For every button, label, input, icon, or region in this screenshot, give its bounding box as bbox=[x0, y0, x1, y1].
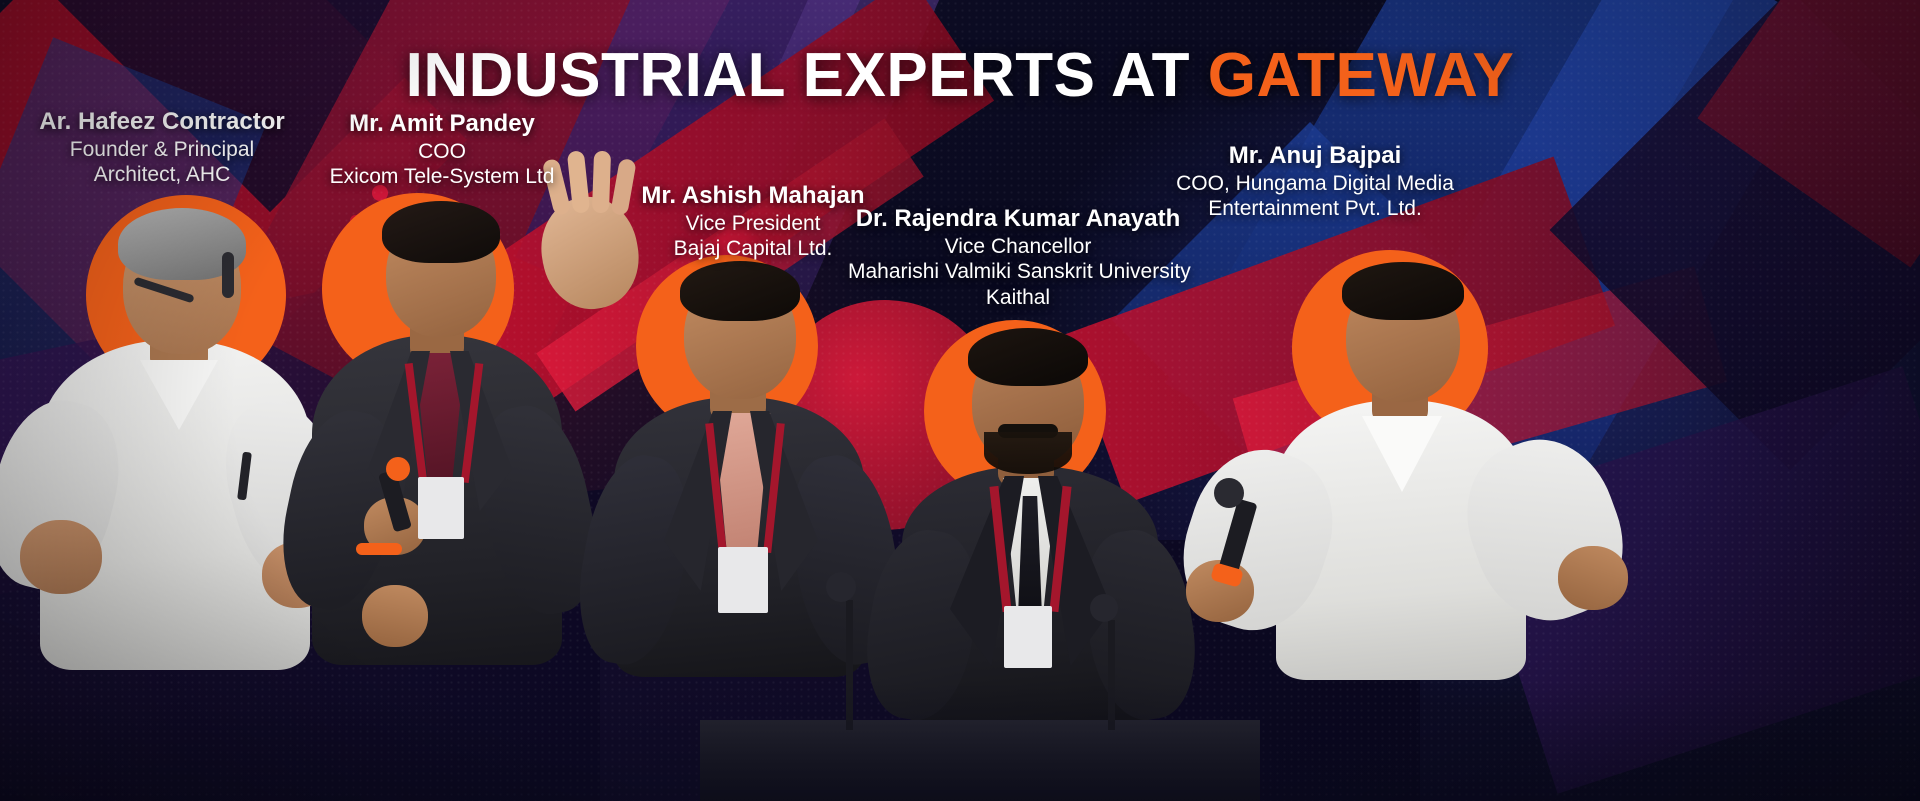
speaker-portrait-5 bbox=[1180, 250, 1630, 670]
podium-mic-head-a bbox=[826, 572, 856, 602]
event-speakers-banner: INDUSTRIAL EXPERTS AT GATEWAY Ar. Hafeez… bbox=[0, 0, 1920, 801]
portrait-hand-left-1 bbox=[20, 520, 102, 594]
portrait-headset-band-1 bbox=[222, 252, 234, 298]
portrait-mic-tip-2 bbox=[386, 457, 410, 481]
portrait-hair-2 bbox=[382, 201, 500, 263]
portrait-badge-2 bbox=[418, 477, 464, 539]
portrait-badge-4 bbox=[1004, 606, 1052, 668]
speaker-portrait-1 bbox=[0, 190, 330, 660]
podium-mic-head-b bbox=[1090, 594, 1118, 622]
portrait-hand-left-2 bbox=[362, 585, 428, 647]
portrait-figure-1 bbox=[0, 190, 330, 660]
portrait-hair-3 bbox=[680, 261, 800, 321]
portrait-badge-3 bbox=[718, 547, 768, 613]
podium-mic-stand-b bbox=[1108, 620, 1115, 730]
portrait-figure-5 bbox=[1180, 250, 1630, 670]
podium-mic-stand-a bbox=[846, 600, 853, 730]
portrait-beard-4 bbox=[984, 432, 1072, 474]
portrait-mic-head-5 bbox=[1214, 478, 1244, 508]
portrait-wristband-2 bbox=[356, 543, 402, 555]
portrait-finger-c-3 bbox=[592, 151, 611, 214]
portrait-hair-4 bbox=[968, 328, 1088, 386]
speaker-portrait-4 bbox=[880, 320, 1230, 720]
portrait-hand-right-5 bbox=[1558, 546, 1628, 610]
portrait-hair-5 bbox=[1342, 262, 1464, 320]
stage-podium bbox=[700, 720, 1260, 801]
portrait-figure-4 bbox=[880, 320, 1230, 720]
